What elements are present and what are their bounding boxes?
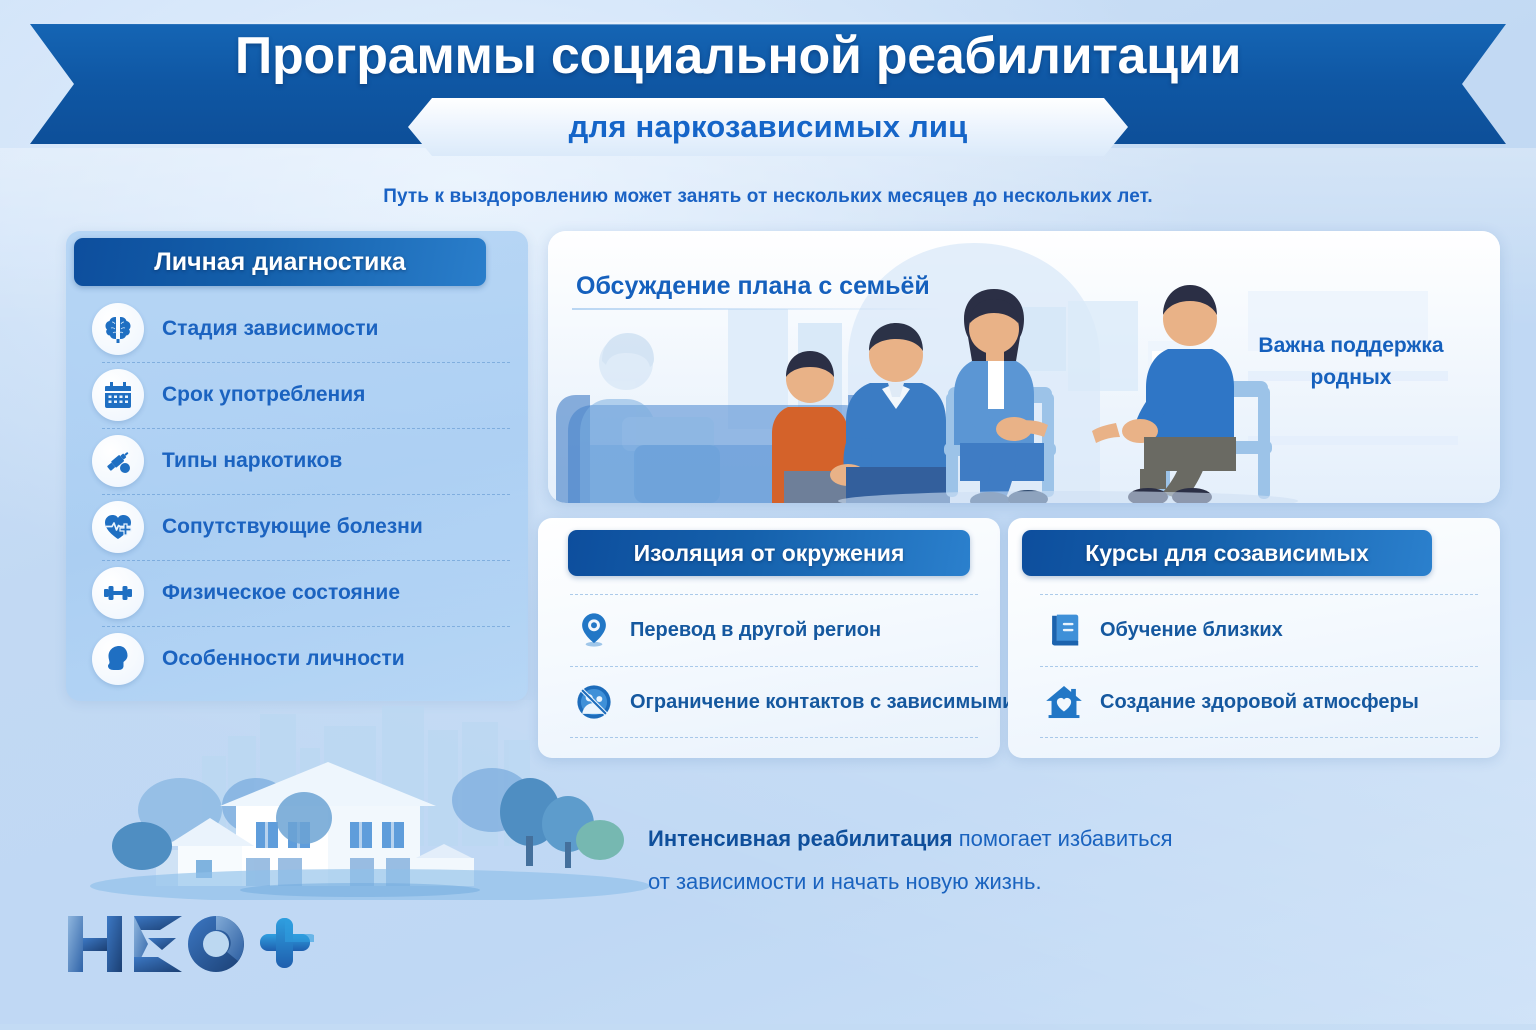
codependent-courses-list: Обучение близких Создание здоровой атмос… xyxy=(1030,594,1484,738)
family-discussion-underline xyxy=(572,308,944,310)
list-item[interactable]: Сопутствующие болезни xyxy=(66,494,528,560)
brand-logo[interactable] xyxy=(64,908,314,980)
list-item[interactable]: Срок употребления xyxy=(66,362,528,428)
list-item-label: Создание здоровой атмосферы xyxy=(1100,691,1419,714)
closing-line-1: Интенсивная реабилитация помогает избави… xyxy=(648,818,1408,861)
codependent-courses-card: Курсы для созависимых Обучение близких С… xyxy=(1008,518,1500,758)
family-support-note: Важна поддержка родных xyxy=(1232,330,1470,393)
list-item-label: Стадия зависимости xyxy=(162,317,378,341)
page-subtitle: для наркозависимых лиц xyxy=(408,98,1128,156)
diagnostics-list: Стадия зависимости Срок употребления Тип… xyxy=(66,296,528,692)
isolation-card-title: Изоляция от окружения xyxy=(568,530,970,576)
dumbbell-icon xyxy=(92,567,144,619)
diagnostics-panel-title: Личная диагностика xyxy=(74,238,486,286)
list-item[interactable]: Обучение близких xyxy=(1030,594,1484,666)
list-item-label: Типы наркотиков xyxy=(162,449,342,473)
brain-icon xyxy=(92,303,144,355)
closing-emphasis: Интенсивная реабилитация xyxy=(648,826,953,851)
codependent-courses-title: Курсы для созависимых xyxy=(1022,530,1432,576)
heart-plus-icon xyxy=(92,501,144,553)
head-profile-icon xyxy=(92,633,144,685)
map-pin-icon xyxy=(572,608,616,652)
rehab-house-illustration xyxy=(60,700,680,900)
list-item-label: Сопутствующие болезни xyxy=(162,515,423,539)
house-heart-icon xyxy=(1042,680,1086,724)
list-item[interactable]: Физическое состояние xyxy=(66,560,528,626)
list-item-label: Срок употребления xyxy=(162,383,365,407)
book-icon xyxy=(1042,608,1086,652)
syringe-pill-icon xyxy=(92,435,144,487)
list-item-label: Обучение близких xyxy=(1100,619,1283,642)
closing-rest: помогает избавиться xyxy=(953,826,1173,851)
page-title: Программы социальной реабилитации xyxy=(0,26,1476,86)
list-item[interactable]: Создание здоровой атмосферы xyxy=(1030,666,1484,738)
list-item-label: Особенности личности xyxy=(162,647,405,671)
intro-text: Путь к выздоровлению может занять от нес… xyxy=(0,186,1536,208)
list-item-label: Физическое состояние xyxy=(162,581,400,605)
list-item[interactable]: Типы наркотиков xyxy=(66,428,528,494)
neo-plus-logo-mark xyxy=(64,908,314,980)
list-item-label: Ограничение контактов с зависимыми xyxy=(630,691,1014,714)
list-item-label: Перевод в другой регион xyxy=(630,619,881,642)
closing-line-2: от зависимости и начать новую жизнь. xyxy=(648,861,1408,904)
list-item[interactable]: Особенности личности xyxy=(66,626,528,692)
header-ribbon-highlight xyxy=(30,22,1506,25)
infographic-poster: Программы социальной реабилитации для на… xyxy=(0,0,1536,1024)
list-item[interactable]: Перевод в другой регион xyxy=(560,594,984,666)
list-item[interactable]: Стадия зависимости xyxy=(66,296,528,362)
family-discussion-title: Обсуждение плана с семьёй xyxy=(576,272,930,301)
calendar-icon xyxy=(92,369,144,421)
closing-statement: Интенсивная реабилитация помогает избави… xyxy=(648,818,1408,904)
